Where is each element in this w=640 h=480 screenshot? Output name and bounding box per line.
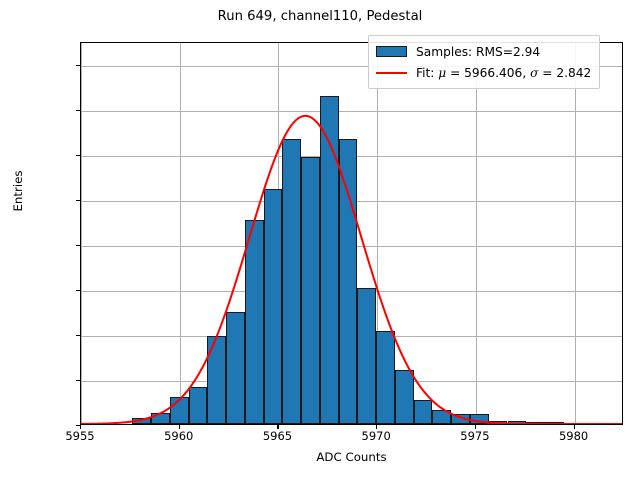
- legend-mu-symbol: μ: [438, 66, 446, 80]
- legend-sigma-value: = 2.842: [538, 66, 591, 80]
- y-tick-mark: [76, 110, 80, 111]
- y-axis-label: Entries: [11, 151, 25, 231]
- x-tick-label: 5955: [40, 429, 120, 443]
- y-tick-mark: [76, 65, 80, 66]
- page-title: Run 649, channel110, Pedestal: [0, 9, 640, 24]
- legend-item-fit: Fit: μ = 5966.406, σ = 2.842: [376, 62, 591, 83]
- y-tick-mark: [76, 155, 80, 156]
- y-tick-mark: [76, 245, 80, 246]
- plot-area: [80, 42, 623, 425]
- legend-label-samples: Samples: RMS=2.94: [416, 45, 540, 59]
- legend-patch-icon: [376, 46, 407, 57]
- y-tick-mark: [76, 290, 80, 291]
- legend-line-icon: [376, 72, 407, 74]
- x-tick-label: 5975: [435, 429, 515, 443]
- x-tick-label: 5960: [139, 429, 219, 443]
- gaussian-fit-curve: [81, 43, 622, 424]
- x-axis-label: ADC Counts: [80, 450, 623, 464]
- legend: Samples: RMS=2.94 Fit: μ = 5966.406, σ =…: [368, 35, 600, 89]
- y-tick-mark: [76, 335, 80, 336]
- matplotlib-figure: Run 649, channel110, Pedestal 0200400600…: [0, 0, 640, 480]
- legend-item-samples: Samples: RMS=2.94: [376, 41, 591, 62]
- y-tick-mark: [76, 200, 80, 201]
- y-tick-mark: [76, 380, 80, 381]
- legend-fit-prefix: Fit:: [416, 66, 438, 80]
- x-tick-label: 5965: [237, 429, 317, 443]
- x-tick-label: 5970: [336, 429, 416, 443]
- legend-mu-value: = 5966.406,: [446, 66, 530, 80]
- legend-label-fit: Fit: μ = 5966.406, σ = 2.842: [416, 66, 591, 80]
- x-tick-label: 5980: [534, 429, 614, 443]
